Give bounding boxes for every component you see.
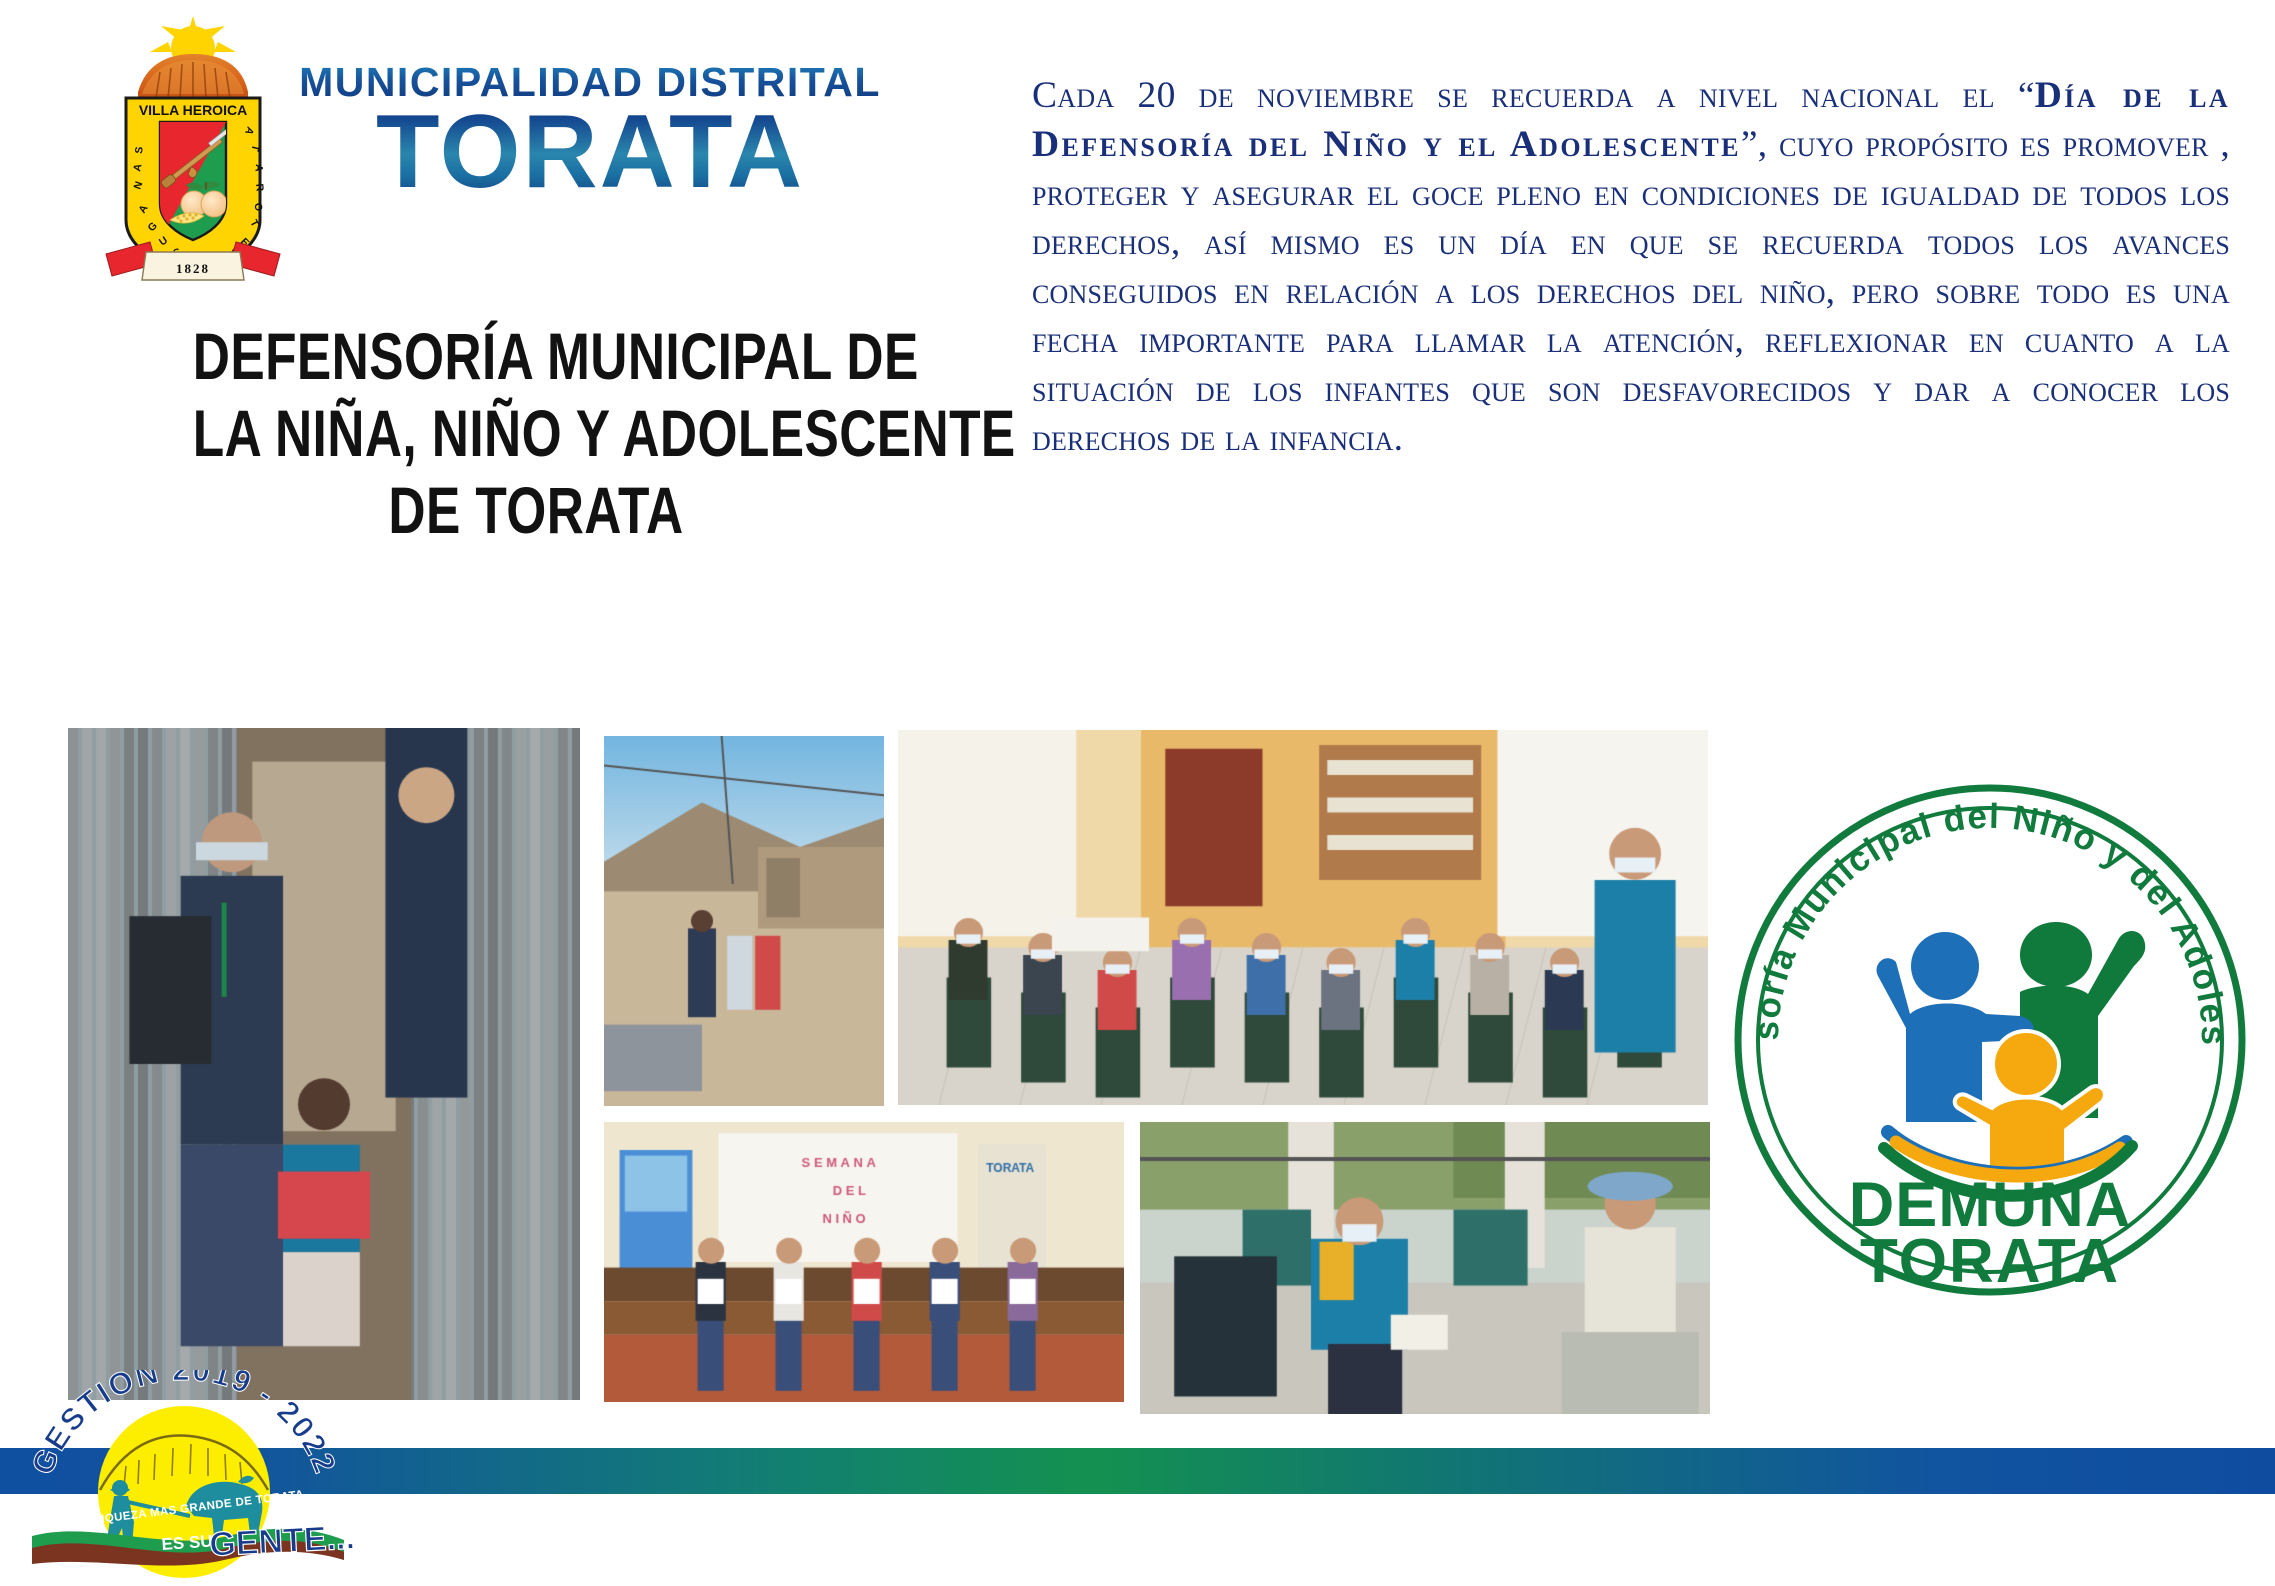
- coa-letter: S: [133, 146, 146, 154]
- photo-semana-del-nino-image: [604, 1122, 1124, 1402]
- photo-home-visit: [68, 728, 580, 1400]
- page-title-line-2: LA NIÑA, NIÑO Y ADOLESCENTE: [193, 395, 879, 472]
- photo-meeting-hall-image: [898, 730, 1708, 1105]
- poster-canvas: VILLA HEROICA S A N A G U S T I N D E T …: [0, 0, 2275, 1586]
- demuna-seal-logo: Defensoría Municipal del Niño y del Adol…: [1720, 770, 2260, 1310]
- gestion-slogan-big: GENTE...: [208, 1518, 354, 1564]
- photo-field-survey-image: [604, 736, 884, 1106]
- intro-paragraph: Cada 20 de noviembre se recuerda a nivel…: [1032, 72, 2230, 464]
- coa-letter: A: [252, 164, 265, 173]
- page-title: DEFENSORÍA MUNICIPAL DE LA NIÑA, NIÑO Y …: [193, 318, 879, 550]
- photo-outdoor-interview-image: [1140, 1122, 1710, 1414]
- photo-meeting-hall: [898, 730, 1708, 1105]
- coa-year: 1828: [176, 261, 210, 276]
- municipality-wordmark: MUNICIPALIDAD DISTRITAL TORATA: [290, 62, 890, 205]
- photo-home-visit-image: [68, 728, 580, 1400]
- seal-ring-text: Defensoría Municipal del Niño y del Adol…: [1720, 770, 2233, 1047]
- page-title-line-1: DEFENSORÍA MUNICIPAL DE: [193, 318, 879, 395]
- photo-semana-del-nino: [604, 1122, 1124, 1402]
- poster-header: VILLA HEROICA S A N A G U S T I N D E T …: [0, 0, 2275, 700]
- paragraph-part-1: Cada 20 de noviembre se recuerda a nivel…: [1032, 75, 2018, 116]
- paragraph-part-2: , cuyo propósito es promover , proteger …: [1032, 124, 2230, 459]
- torata-coat-of-arms-icon: VILLA HEROICA S A N A G U S T I N D E T …: [98, 14, 288, 286]
- coa-letter: R: [253, 183, 266, 192]
- photo-field-survey: [604, 736, 884, 1106]
- seal-name-line-2: TORATA: [1860, 1227, 2120, 1296]
- wordmark-main-line: TORATA: [290, 99, 890, 205]
- page-title-line-3: DE TORATA: [193, 472, 879, 549]
- quote-close: ”: [1741, 124, 1758, 165]
- seal-figures-icon: [1877, 922, 2146, 1196]
- quote-open: “: [2018, 75, 2035, 116]
- photo-outdoor-interview: [1140, 1122, 1710, 1414]
- gestion-badge: GESTION 2019 - 2022 LA RIQUEZA MAS GRAND…: [14, 1370, 354, 1586]
- coa-motto-top: VILLA HEROICA: [139, 102, 247, 118]
- gestion-slogan-mid: ES SU: [161, 1531, 213, 1554]
